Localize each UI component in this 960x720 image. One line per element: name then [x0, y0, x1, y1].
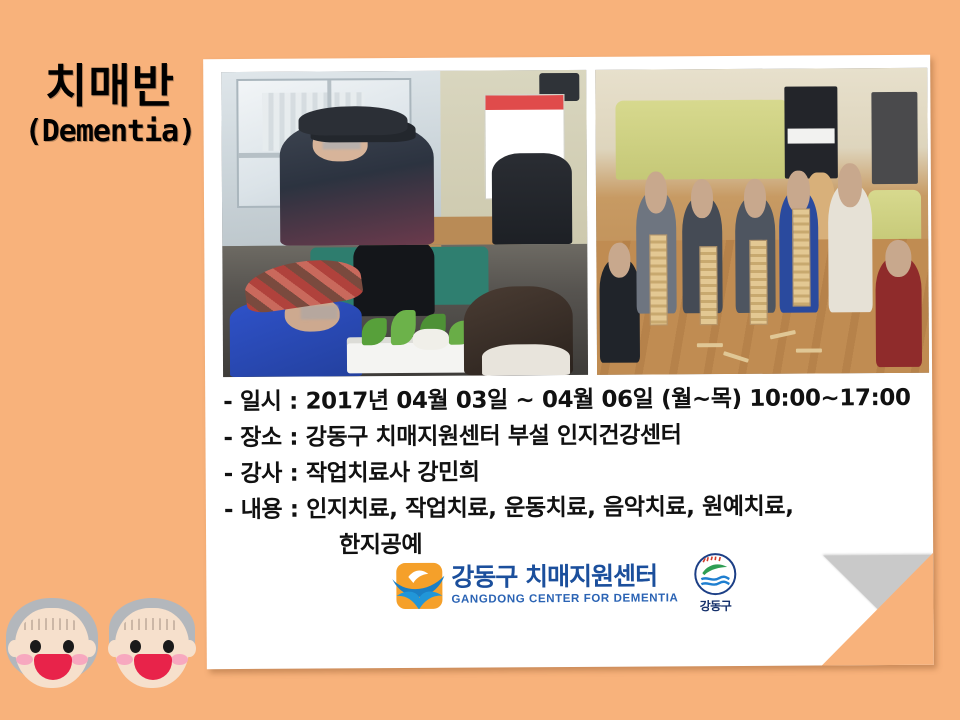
wooden-block-tower-shape [749, 240, 768, 326]
wooden-block-shape [696, 343, 722, 347]
eye-shape [30, 640, 41, 653]
elderly-faces-decoration [4, 596, 200, 696]
glove-shape [413, 329, 450, 350]
person-shape-2 [492, 153, 573, 244]
photo-left-bottom-scene [222, 244, 588, 377]
slide-title-block: 치매반 (Dementia) [10, 62, 210, 149]
info-line-place: - 장소 : 강동구 치매지원센터 부설 인지건강센터 [223, 416, 923, 456]
gangdong-district-emblem: 강동구 [694, 553, 736, 614]
program-info-list: - 일시 : 2017년 04월 03일 ~ 04월 06일 (월~목) 10:… [223, 380, 924, 564]
photo-left [221, 70, 588, 377]
cheek-shape [71, 654, 88, 665]
head-shape [644, 172, 667, 214]
head-shape [787, 171, 810, 213]
info-line-content: - 내용 : 인지치료, 작업치료, 운동치료, 음악치료, 원예치료, [224, 488, 924, 528]
sofa-shape [615, 99, 788, 179]
eye-shape [63, 640, 74, 653]
eye-shape [163, 640, 174, 653]
head-shape [885, 239, 911, 276]
grandma-face-icon [4, 596, 100, 696]
participant-shape [828, 184, 872, 312]
piano-shape [785, 87, 839, 179]
page-title: 치매반 [10, 62, 210, 110]
cheek-shape [16, 654, 33, 665]
bangs-shape [24, 618, 80, 630]
participant-shape [875, 257, 922, 367]
head-shape [608, 242, 631, 277]
head-shape [691, 179, 714, 219]
center-logo-text: 강동구 치매지원센터 GANGDONG CENTER FOR DEMENTIA [451, 564, 678, 606]
wooden-block-shape [796, 348, 822, 352]
head-shape [838, 164, 862, 208]
wooden-block-tower-shape [699, 246, 718, 325]
photo-strip [221, 68, 929, 377]
content-card: - 일시 : 2017년 04월 03일 ~ 04월 06일 (월~목) 10:… [203, 55, 934, 669]
eye-shape [130, 640, 141, 653]
cap-shape [298, 106, 408, 136]
dementia-center-logo-icon [396, 562, 442, 608]
center-logo-english: GANGDONG CENTER FOR DEMENTIA [451, 592, 678, 605]
cheek-shape [116, 654, 133, 665]
wooden-block-tower-shape [792, 209, 811, 307]
photo-left-top-scene [221, 70, 587, 246]
slide-canvas: 치매반 (Dementia) [0, 0, 960, 720]
footer-logo-row: 강동구 치매지원센터 GANGDONG CENTER FOR DEMENTIA … [396, 553, 736, 616]
info-line-datetime: - 일시 : 2017년 04월 03일 ~ 04월 06일 (월~목) 10:… [223, 380, 923, 420]
head-shape [744, 178, 767, 218]
info-line-instructor: - 강사 : 작업치료사 강민희 [224, 452, 924, 492]
photo-right [595, 68, 929, 375]
bangs-shape [124, 618, 180, 630]
grandpa-face-icon [104, 596, 200, 696]
center-logo-korean: 강동구 치매지원센터 [451, 564, 678, 592]
white-hair-shape [482, 344, 570, 376]
appliance-shape [871, 92, 918, 184]
wooden-block-tower-shape [649, 234, 668, 326]
page-fold-corner [821, 553, 934, 666]
center-logo: 강동구 치매지원센터 GANGDONG CENTER FOR DEMENTIA [396, 561, 678, 609]
page-subtitle: (Dementia) [10, 114, 210, 149]
emblem-label: 강동구 [700, 597, 732, 614]
person-shape [354, 244, 435, 316]
emblem-circle-icon [694, 553, 736, 595]
participant-shape [600, 259, 640, 363]
cheek-shape [171, 654, 188, 665]
